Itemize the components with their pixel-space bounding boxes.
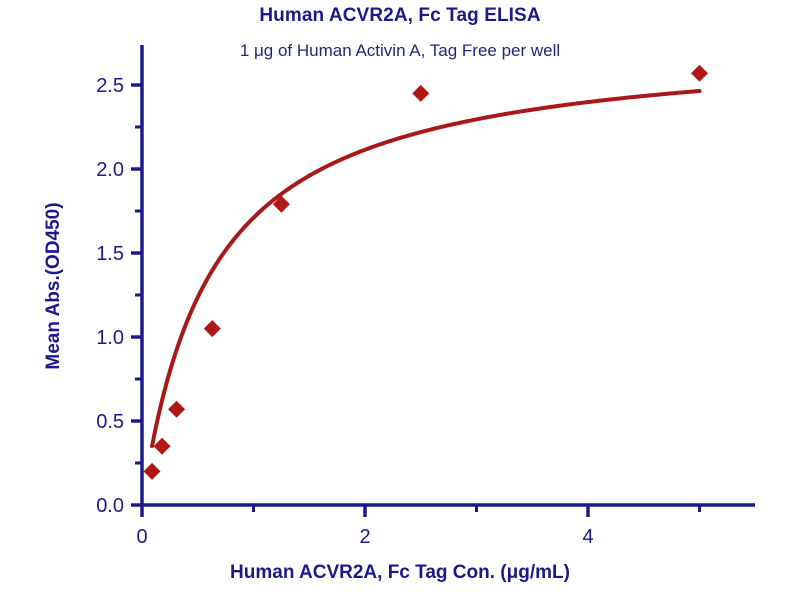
data-marker-layer <box>144 65 708 480</box>
elisa-chart-figure: Human ACVR2A, Fc Tag ELISA 1 μg of Human… <box>0 0 800 600</box>
data-point-marker <box>204 320 221 337</box>
data-point-marker <box>412 85 429 102</box>
y-tick-label: 2.5 <box>96 75 124 97</box>
fit-curve <box>152 91 699 446</box>
x-tick-label: 0 <box>136 526 147 548</box>
fit-curve-layer <box>152 91 699 446</box>
x-tick-label: 2 <box>359 526 370 548</box>
data-point-marker <box>691 65 708 82</box>
data-point-marker <box>168 401 185 418</box>
y-tick-label: 0.0 <box>96 495 124 517</box>
y-tick-label: 1.0 <box>96 327 124 349</box>
tick-label-layer: 0.00.51.01.52.02.5024 <box>96 75 593 548</box>
y-tick-label: 1.5 <box>96 243 124 265</box>
x-tick-label: 4 <box>582 526 593 548</box>
data-point-marker <box>144 463 161 480</box>
plot-area: 0.00.51.01.52.02.5024 <box>0 0 800 600</box>
y-tick-label: 2.0 <box>96 159 124 181</box>
y-tick-label: 0.5 <box>96 411 124 433</box>
data-point-marker <box>154 438 171 455</box>
axis-layer <box>131 45 755 517</box>
